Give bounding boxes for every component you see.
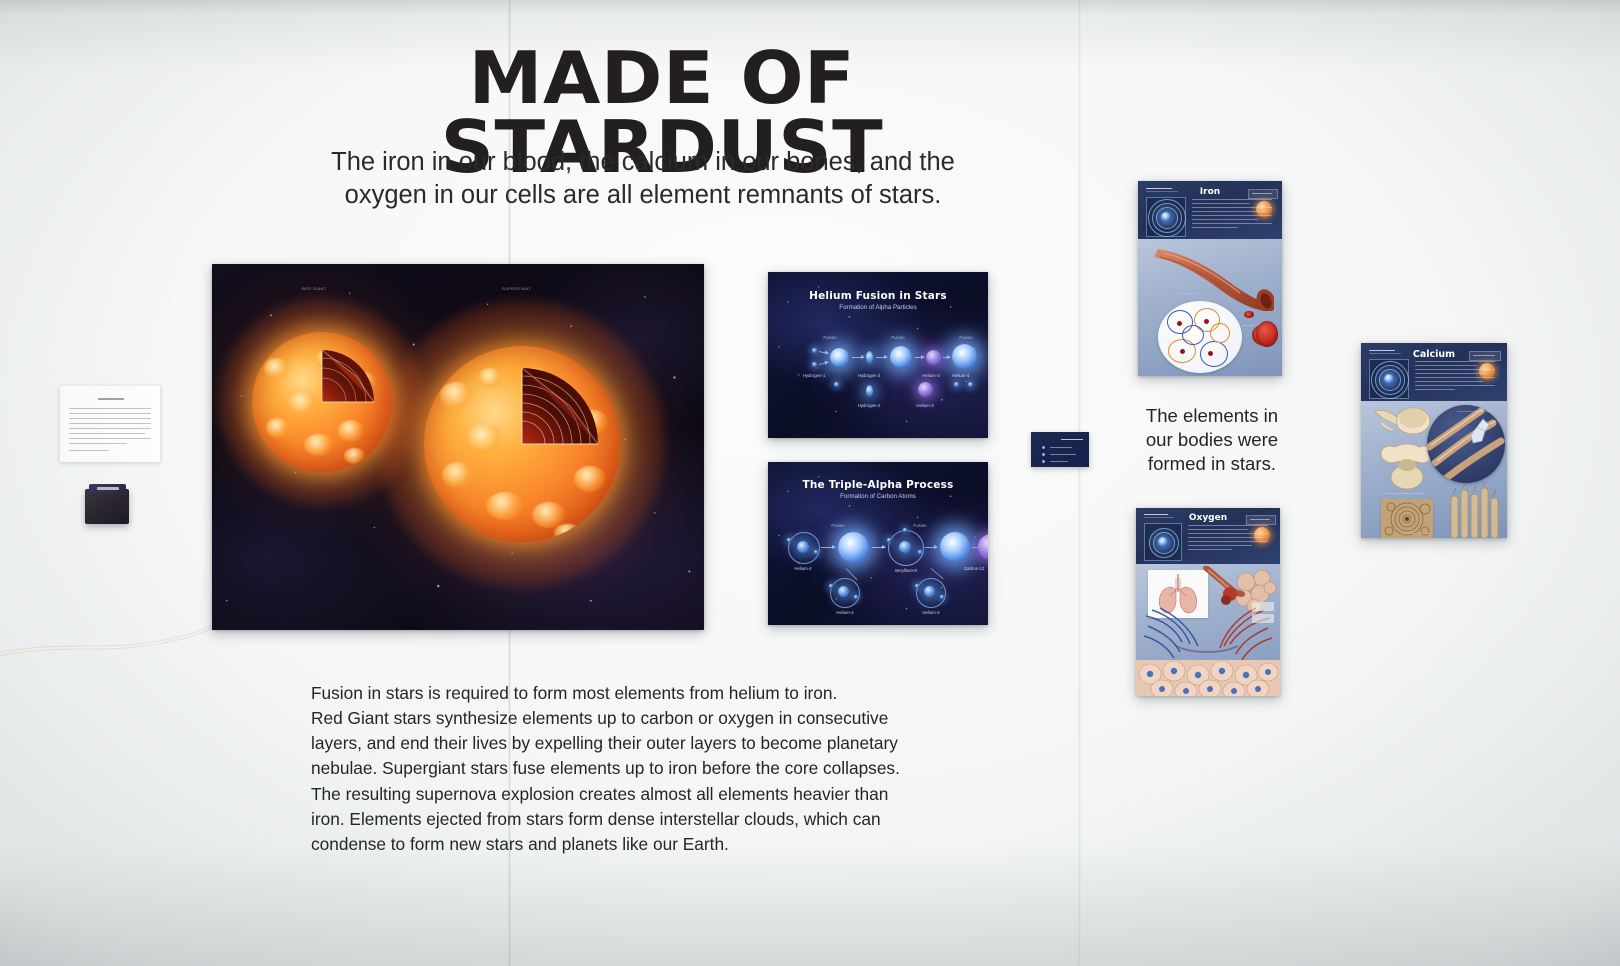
fusion-label-1: Fusion [818,523,858,528]
fusion-node-2 [890,346,912,368]
byproduct-2 [866,385,873,397]
node-label-helium-3: Helium-3 [907,373,955,378]
fusion-label-2: Fusion [878,335,918,340]
calcium-illustration [1361,401,1507,538]
panel-helium-fusion[interactable]: Helium Fusion in Stars Formation of Alph… [768,272,988,438]
iron-corner-badge [1248,189,1278,199]
iron-illustration [1138,239,1282,376]
wall-notice-sheet [60,386,160,462]
poster-iron[interactable]: Iron [1138,181,1282,376]
helium3-node-2 [918,382,933,397]
node-label-beryllium-8: Beryllium-8 [878,568,934,573]
arrow-4 [876,357,887,358]
calcium-caption-1 [1385,493,1425,494]
tissue-strip [1136,660,1280,696]
calcium-atom-label [1369,350,1403,355]
panel-subtitle: Formation of Carbon Atoms [768,493,988,500]
node-label-helium-4a: Helium-4 [778,566,828,571]
iron-atom-diagram [1146,197,1186,237]
star-label-supergiant: SUPERGIANT [502,286,531,291]
helium4-node-3 [916,578,944,606]
iron-atom-label [1146,188,1180,193]
node-label-helium-4b: Helium-4 [820,610,870,615]
wall-mounted-device[interactable] [85,489,129,524]
star-label-red-giant: RED GIANT [302,286,326,291]
fusion-node-1 [830,348,849,367]
calcium-caption-3 [1457,411,1491,412]
arrow-2 [872,547,885,548]
fusion-node-3 [952,344,977,369]
helium4-node-1 [788,532,818,562]
node-label-hydrogen-1: Hydrogen-1 [790,373,838,378]
oxygen-atom-label [1144,514,1178,519]
byproduct-4 [968,382,973,387]
red-blood-cell-1 [1244,311,1254,318]
arrow-1 [821,547,835,548]
deuterium-node [866,351,873,364]
byproduct-3 [954,382,959,387]
helium3-node [926,350,941,365]
bone-columns [1447,482,1507,538]
byproduct-1 [834,382,839,387]
oxygen-callout-1 [1252,602,1274,611]
calcium-caption-4 [1401,533,1431,534]
fusion-node-2 [940,532,970,562]
vertebra-top [1373,405,1435,445]
wall-top-band [0,0,1620,14]
panel-triple-alpha[interactable]: The Triple-Alpha Process Formation of Ca… [768,462,988,625]
exhibit-subheadline: The iron in our blood, the calcium in ou… [290,146,996,212]
red-giant-star [252,332,392,472]
power-cable [0,592,230,662]
arrow-3 [925,547,937,548]
iron-leader-line [1242,325,1256,326]
panel-title: The Triple-Alpha Process [768,479,988,491]
node-label-helium-4: Helium-4 [952,373,988,378]
bodies-statement: The elements in our bodies were formed i… [1136,404,1288,477]
node-label-helium-3b: Helium-3 [901,403,949,408]
panel-subtitle: Formation of Alpha Particles [768,304,988,311]
supergiant-star [424,346,620,542]
fusion-label-3: Fusion [946,335,986,340]
red-blood-cell-3 [1256,321,1278,347]
fusion-label-1: Fusion [810,335,850,340]
arrow-5 [915,357,924,358]
arrow-3 [852,357,864,358]
oxygen-corner-badge [1246,515,1276,525]
collagen-crystal-inset [1427,405,1505,483]
beryllium8-node [888,530,922,564]
wall-bottom-shading [0,846,1620,966]
node-label-hydrogen-2: Hydrogen-2 [844,373,894,378]
exhibit-placard[interactable] [1031,432,1089,467]
calcium-corner-badge [1469,351,1501,361]
exhibit-body-text: Fusion in stars is required to form most… [311,681,961,857]
hemoglobin-diagram [1158,301,1242,373]
node-label-carbon-12: Carbon-12 [964,566,988,571]
fusion-node-1 [838,532,869,563]
poster-calcium[interactable]: Calcium [1361,343,1507,538]
oxygen-callout-2 [1252,614,1274,623]
node-label-helium-4c: Helium-4 [906,610,956,615]
calcium-atom-diagram [1369,359,1409,399]
helium4-node-2 [830,578,858,606]
proton-b [812,362,817,367]
star-cutaway-artwork[interactable]: RED GIANT SUPERGIANT [212,264,704,630]
exhibit-wall: MADE OF STARDUST The iron in our blood, … [0,0,1620,966]
wall-seam-right [1078,0,1081,966]
panel-title: Helium Fusion in Stars [768,290,988,302]
oxygen-illustration [1136,564,1280,696]
poster-oxygen[interactable]: Oxygen [1136,508,1280,696]
node-label-hydrogen-2b: Hydrogen-2 [844,403,894,408]
arrow-6 [943,357,950,358]
iron-caption-line [1180,293,1198,294]
proton-a [812,348,817,353]
oxygen-atom-diagram [1144,523,1182,561]
